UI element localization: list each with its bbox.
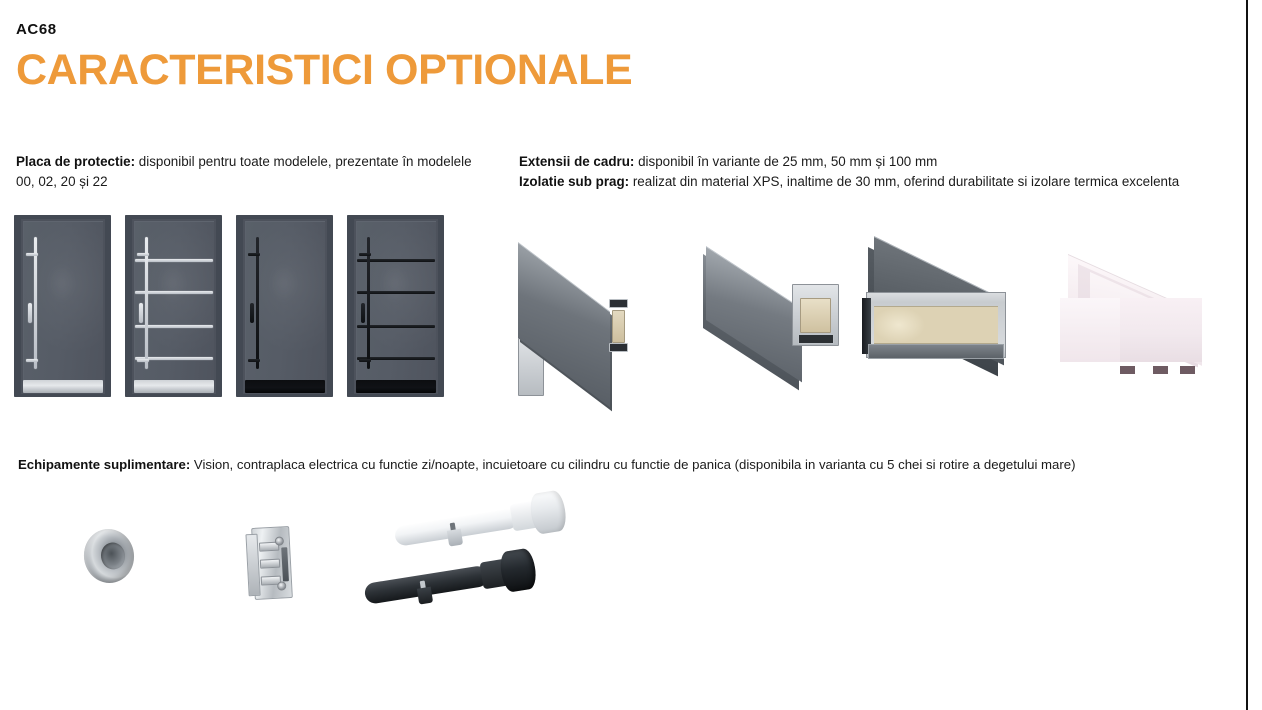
additional-equipment-copy: Echipamente suplimentare: Vision, contra…: [18, 455, 1208, 475]
door-handle-bar: [256, 237, 259, 369]
profile-thermal-break: [612, 310, 625, 343]
euro-cylinder-thumbturn-white-image: [392, 519, 397, 553]
door-protection-plate: [23, 380, 103, 393]
page-header: AC68 CARACTERISTICI OPTIONALE: [16, 22, 632, 92]
door-handle-stub: [248, 359, 260, 362]
cylinder-thumbturn-knob: [528, 489, 568, 535]
strike-tongue: [260, 559, 280, 569]
door-handle-stub: [359, 253, 371, 256]
page-edge-rule: [1246, 0, 1248, 710]
door-model-22: [347, 215, 444, 397]
door-viewer-vision-image: [80, 526, 137, 586]
frame-extension-100mm-image: [862, 236, 1047, 376]
door-handle-stub: [26, 253, 38, 256]
protection-plate-label: Placa de protectie:: [16, 154, 135, 169]
door-handle-bar: [367, 237, 370, 369]
protection-plate-copy: Placa de protectie: disponibil pentru to…: [16, 152, 486, 192]
frame-extensions-label: Extensii de cadru:: [519, 154, 634, 169]
profile-top-face: [706, 246, 802, 382]
door-handle-stub: [137, 359, 149, 362]
door-model-20: [236, 215, 333, 397]
door-lock-escutcheon: [361, 303, 365, 323]
door-handle-stub: [248, 253, 260, 256]
frame-extension-copy-group: Extensii de cadru: disponibil în variant…: [519, 152, 1249, 192]
door-handle-stub: [26, 359, 38, 362]
door-models-figure: [14, 215, 448, 397]
threshold-insulation-label: Izolatie sub prag:: [519, 174, 629, 189]
door-model-02: [125, 215, 222, 397]
xps-notch: [1153, 366, 1168, 374]
xps-notch: [1180, 366, 1195, 374]
door-lock-escutcheon: [139, 303, 143, 323]
profile-insulation-fill: [874, 306, 998, 344]
xps-notch: [1120, 366, 1135, 374]
cylinder-thumbturn-knob: [498, 547, 538, 593]
profile-bottom-slab: [868, 344, 1004, 359]
strike-screw: [277, 581, 286, 590]
strike-housing: [281, 547, 289, 581]
additional-equipment-label: Echipamente suplimentare:: [18, 457, 190, 472]
door-protection-plate: [245, 380, 325, 393]
frame-extensions-copy: Extensii de cadru: disponibil în variant…: [519, 152, 1249, 172]
threshold-insulation-xps-image: [1052, 254, 1222, 374]
door-lock-escutcheon: [28, 303, 32, 323]
frame-extension-25mm-image: [518, 242, 628, 374]
frame-extensions-text: disponibil în variante de 25 mm, 50 mm ș…: [634, 154, 937, 169]
cylinder-cam: [417, 587, 433, 605]
profile-thermal-break: [800, 298, 831, 333]
door-handle-bar: [145, 237, 148, 369]
threshold-insulation-text: realizat din material XPS, inaltime de 3…: [629, 174, 1179, 189]
profile-chamber: [609, 299, 628, 308]
cylinder-cam: [447, 529, 463, 547]
door-handle-stub: [359, 359, 371, 362]
additional-equipment-figure: [70, 505, 690, 650]
door-protection-plate: [356, 380, 436, 393]
door-lock-escutcheon: [250, 303, 254, 323]
page-title: CARACTERISTICI OPTIONALE: [16, 48, 632, 93]
euro-cylinder-thumbturn-black-image: [362, 577, 367, 611]
frame-extension-50mm-image: [702, 246, 837, 372]
threshold-insulation-copy: Izolatie sub prag: realizat din material…: [519, 172, 1249, 192]
door-handle-stub: [137, 253, 149, 256]
strike-screw: [275, 536, 284, 545]
electric-strike-plate-image: [251, 526, 293, 600]
profile-chamber: [609, 343, 628, 352]
door-model-00: [14, 215, 111, 397]
door-handle-bar: [34, 237, 37, 369]
frame-extension-profiles-figure: [512, 228, 1212, 398]
door-protection-plate: [134, 380, 214, 393]
profile-chamber: [798, 334, 834, 344]
product-code: AC68: [16, 22, 632, 39]
xps-side-face: [1060, 298, 1120, 362]
additional-equipment-text: Vision, contraplaca electrica cu functie…: [190, 457, 1075, 472]
